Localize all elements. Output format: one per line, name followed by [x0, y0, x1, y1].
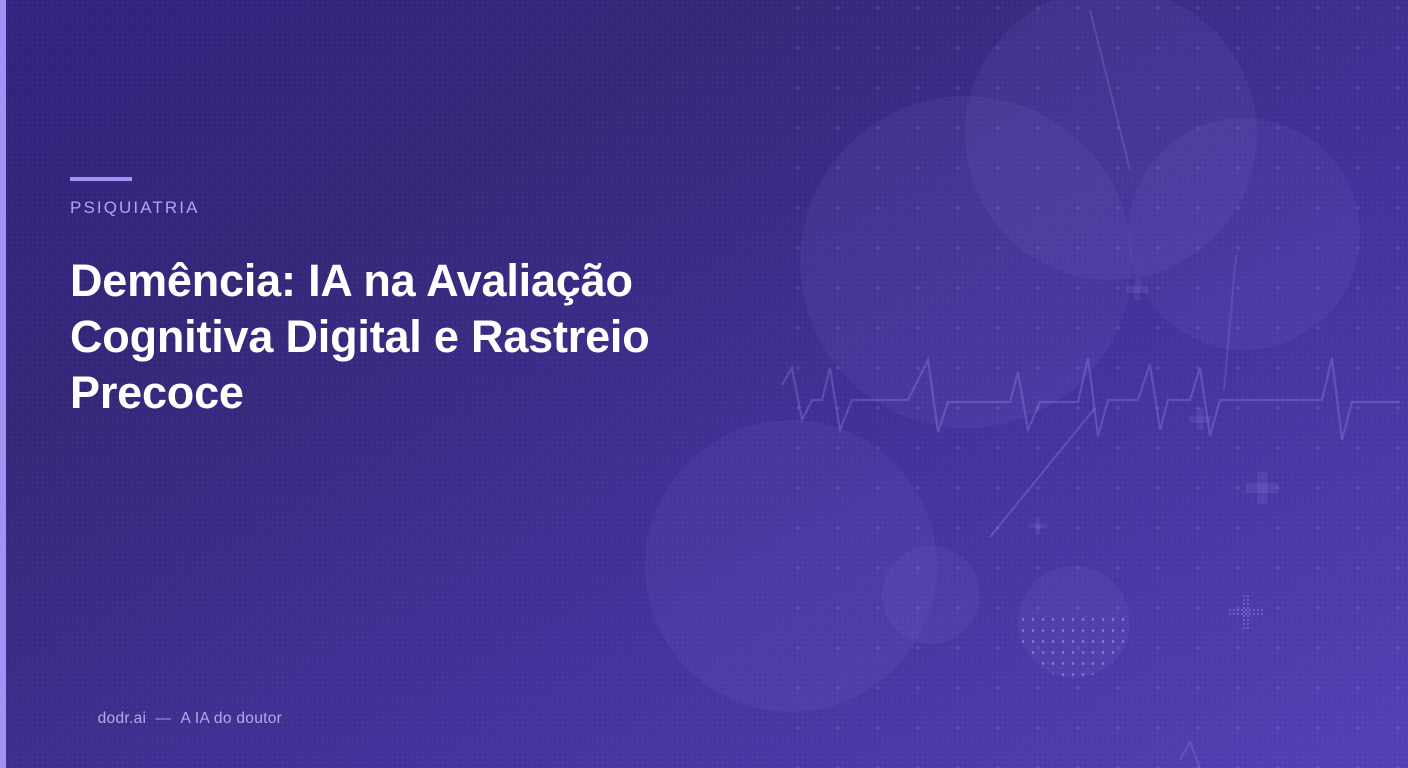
- footer-brand: dodr.ai — A IA do doutor: [70, 692, 282, 746]
- kicker-rule: [70, 177, 132, 181]
- brand-tagline: A IA do doutor: [181, 710, 283, 727]
- left-accent-rail: [0, 0, 6, 768]
- category-kicker: PSIQUIATRIA: [70, 198, 200, 218]
- page-title: Demência: IA na Avaliação Cognitiva Digi…: [70, 253, 690, 421]
- brand-name: dodr.ai: [98, 710, 147, 727]
- title-card: PSIQUIATRIA Demência: IA na Avaliação Co…: [0, 0, 1408, 768]
- footer-separator: —: [146, 710, 180, 727]
- card-content: PSIQUIATRIA Demência: IA na Avaliação Co…: [70, 0, 1408, 768]
